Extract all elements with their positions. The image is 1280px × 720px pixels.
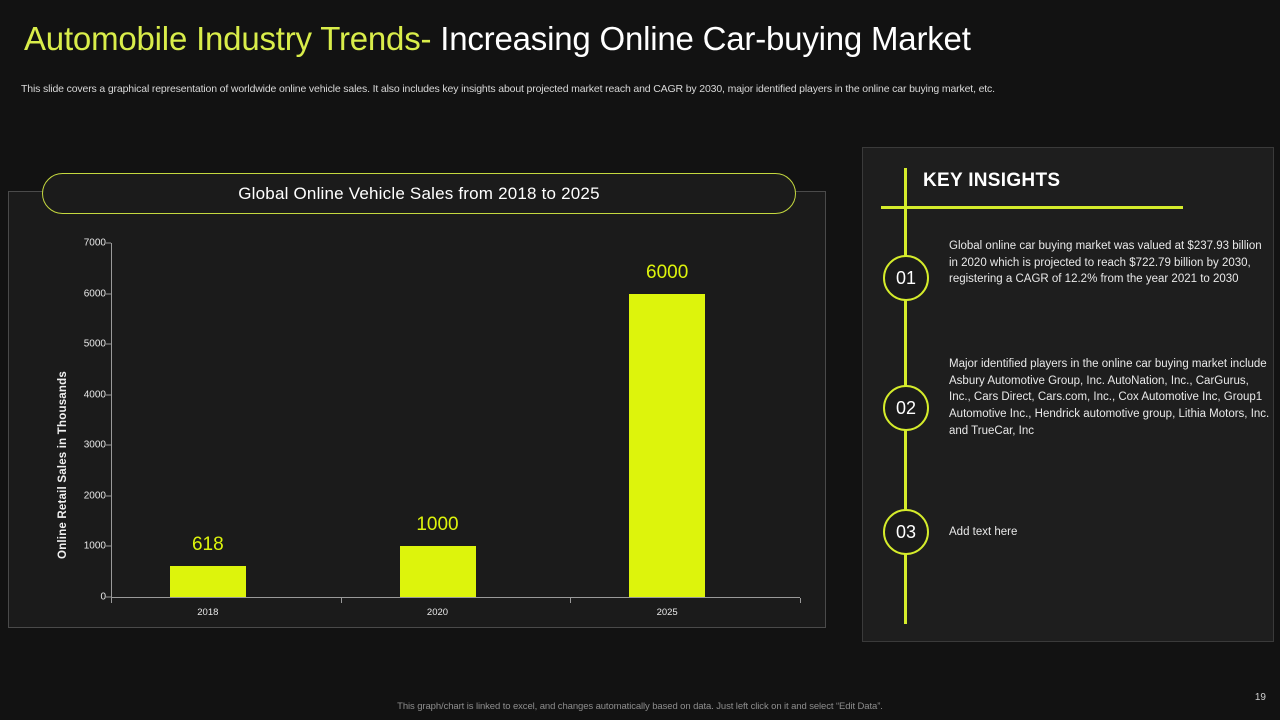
chart-title: Global Online Vehicle Sales from 2018 to… <box>238 184 600 204</box>
chart-x-tick-mark <box>800 598 801 603</box>
chart-bar-value-label: 6000 <box>646 262 688 284</box>
key-insight-number-badge: 01 <box>883 255 929 301</box>
chart-title-pill: Global Online Vehicle Sales from 2018 to… <box>42 173 796 214</box>
key-insight-number-badge: 02 <box>883 385 929 431</box>
chart-bar[interactable] <box>629 294 705 597</box>
key-insight-text: Major identified players in the online c… <box>949 356 1271 439</box>
chart-y-tick-label: 5000 <box>64 339 106 350</box>
chart-bar[interactable] <box>170 566 246 597</box>
footer-note: This graph/chart is linked to excel, and… <box>0 701 1280 712</box>
chart-y-tick-label: 1000 <box>64 541 106 552</box>
chart-y-tick-mark <box>106 243 111 244</box>
chart-y-tick-label: 3000 <box>64 440 106 451</box>
chart-bar[interactable] <box>400 546 476 597</box>
key-insights-underline <box>881 206 1183 209</box>
chart-y-tick-mark <box>106 495 111 496</box>
chart-x-axis-line <box>111 597 800 598</box>
chart-y-tick-mark <box>106 344 111 345</box>
chart-y-tick-mark <box>106 394 111 395</box>
chart-y-axis-ticks: 01000200030004000500060007000 <box>64 191 106 628</box>
chart-y-tick-label: 7000 <box>64 238 106 249</box>
chart-bar-value-label: 618 <box>192 534 224 556</box>
chart-x-tick-mark <box>111 598 112 603</box>
chart-x-tick-mark <box>341 598 342 603</box>
key-insight-text: Global online car buying market was valu… <box>949 238 1271 288</box>
chart-y-tick-mark <box>106 293 111 294</box>
page-subtitle: This slide covers a graphical representa… <box>21 83 1261 95</box>
chart-y-tick-label: 4000 <box>64 389 106 400</box>
key-insights-heading: KEY INSIGHTS <box>923 170 1060 192</box>
page-number: 19 <box>1255 692 1266 703</box>
chart-y-tick-mark <box>106 546 111 547</box>
chart-bar-value-label: 1000 <box>416 514 458 536</box>
chart-y-tick-label: 2000 <box>64 490 106 501</box>
chart-x-tick-label: 2018 <box>197 607 218 618</box>
slide-root: Automobile Industry Trends- Increasing O… <box>0 0 1280 720</box>
chart-y-tick-label: 0 <box>64 592 106 603</box>
key-insight-number-badge: 03 <box>883 509 929 555</box>
chart-x-tick-label: 2020 <box>427 607 448 618</box>
key-insight-text: Add text here <box>949 524 1271 541</box>
page-title-rest: Increasing Online Car-buying Market <box>431 20 970 57</box>
page-title-accent: Automobile Industry Trends- <box>24 20 431 57</box>
page-title: Automobile Industry Trends- Increasing O… <box>24 20 971 58</box>
chart-y-axis-line <box>111 243 112 597</box>
chart-x-tick-mark <box>570 598 571 603</box>
chart-y-tick-label: 6000 <box>64 288 106 299</box>
chart-axes: 61820181000202060002025 <box>111 191 800 628</box>
chart-plot-area[interactable]: Online Retail Sales in Thousands 0100020… <box>8 191 826 628</box>
chart-y-tick-mark <box>106 445 111 446</box>
chart-x-tick-label: 2025 <box>657 607 678 618</box>
